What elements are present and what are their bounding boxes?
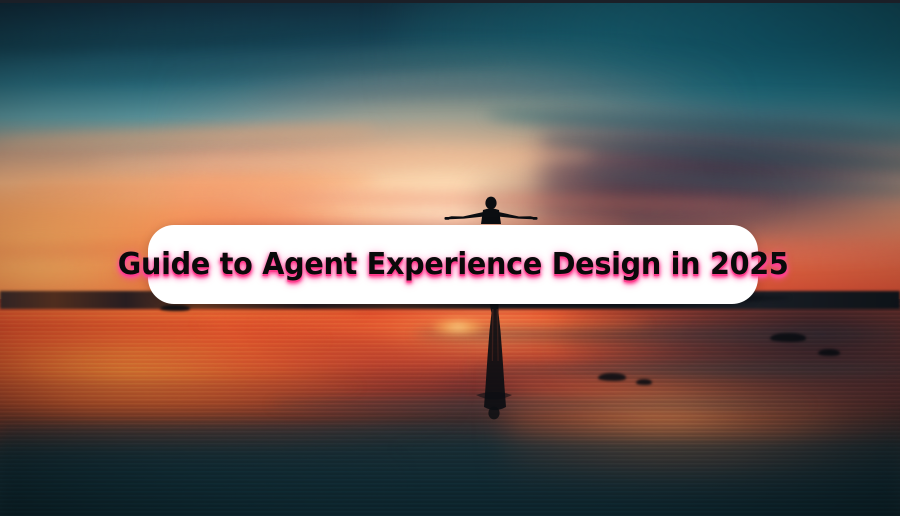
person-silhouette-icon [443,196,539,224]
rock [818,349,840,356]
rock [160,305,190,311]
hero-banner: Guide to Agent Experience Design in 2025 [0,0,900,516]
reflection-silhouette-icon [474,303,514,421]
rock [770,333,806,342]
page-title: Guide to Agent Experience Design in 2025 [118,247,789,282]
rock [598,373,626,381]
rock [636,379,652,385]
title-card: Guide to Agent Experience Design in 2025 [148,225,758,304]
